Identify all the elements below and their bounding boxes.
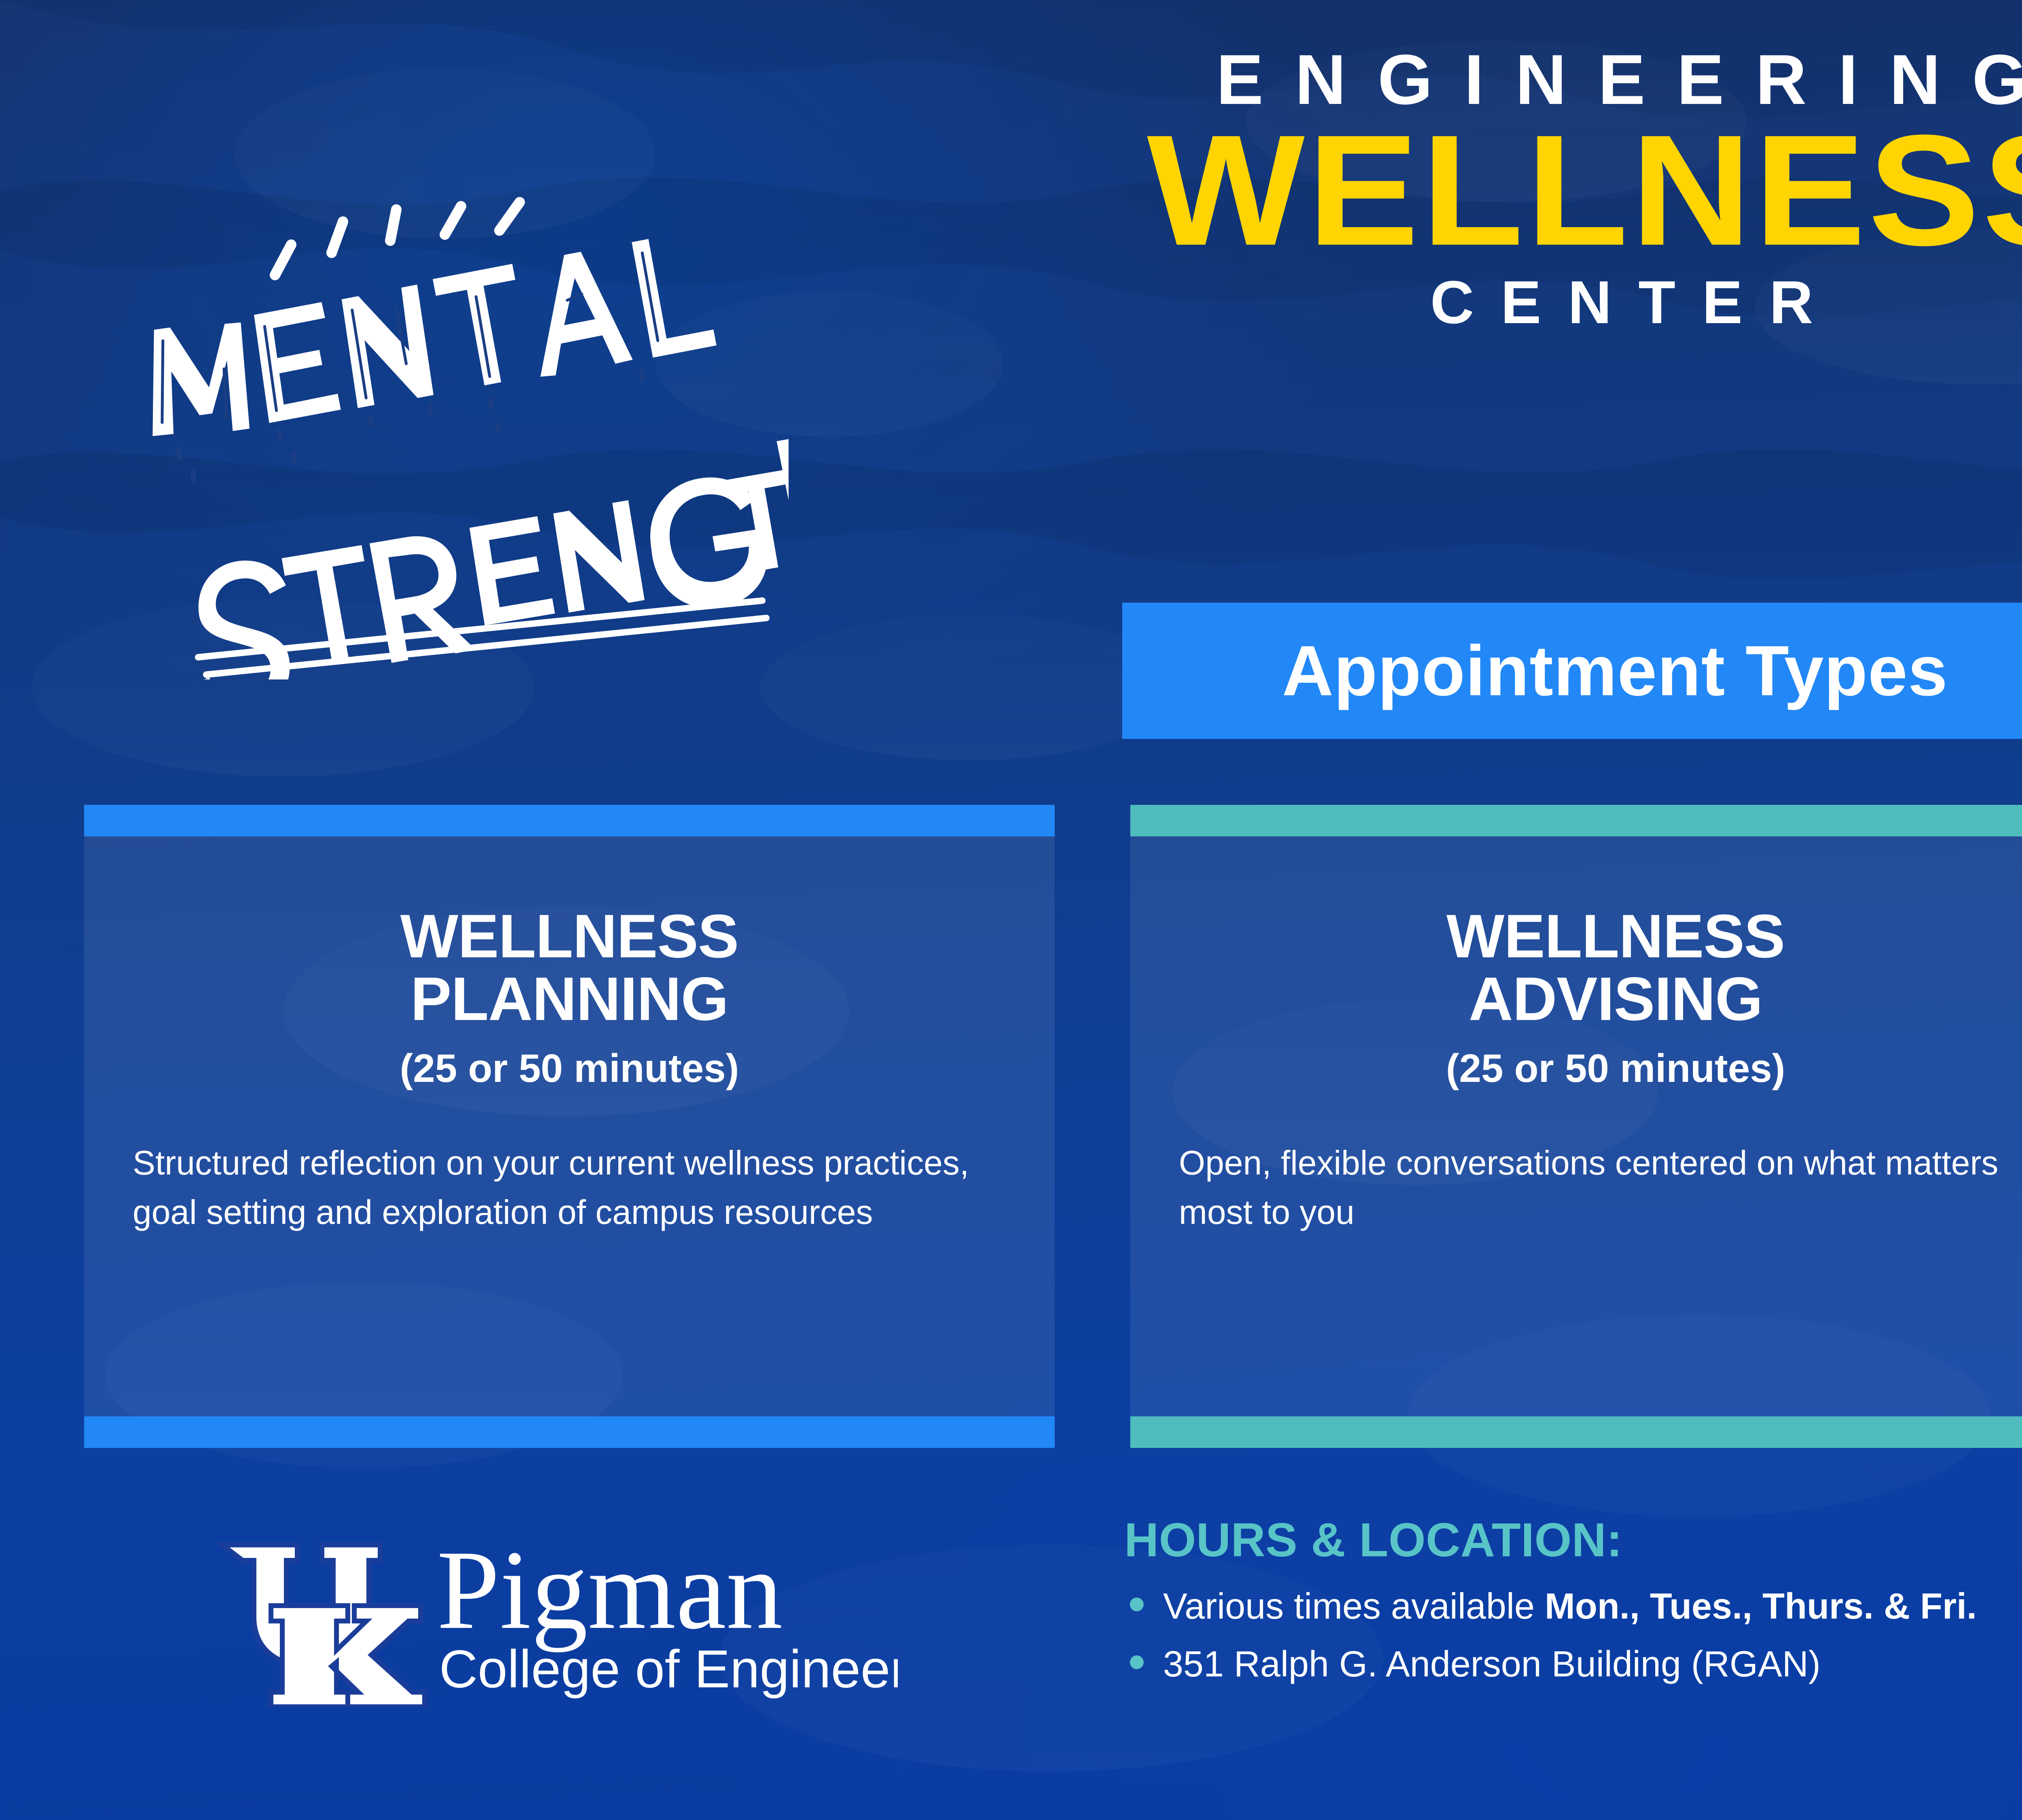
poster-canvas: ENGINEERING WELLNESS CENTER	[0, 0, 2022, 1820]
card-accent-bar-top	[84, 805, 1055, 836]
bullet-icon	[1130, 1655, 1144, 1669]
card-description: Structured reflection on your current we…	[84, 1138, 1055, 1237]
hours-item-text: Various times available	[1163, 1586, 1545, 1627]
card-body: WELLNESS ADVISING (25 or 50 minutes) Ope…	[1130, 836, 2022, 1416]
hours-heading: HOURS & LOCATION:	[1124, 1513, 2022, 1568]
card-duration: (25 or 50 minutes)	[1130, 1047, 2022, 1090]
uk-pigman-logo: Pigman College of Engineering	[210, 1529, 898, 1707]
appointment-types-banner: Appointment Types	[1122, 603, 2022, 739]
appointment-cards: WELLNESS PLANNING (25 or 50 minutes) Str…	[0, 805, 2022, 1452]
card-title: WELLNESS ADVISING	[1130, 905, 2022, 1031]
uk-monogram-icon	[222, 1545, 425, 1707]
appointment-card-wellness-advising[interactable]: WELLNESS ADVISING (25 or 50 minutes) Ope…	[1130, 805, 2022, 1448]
hours-location-block: HOURS & LOCATION: Various times availabl…	[1124, 1513, 2022, 1699]
logo-wordmark: Pigman	[437, 1529, 783, 1653]
hours-list-item: 351 Ralph G. Anderson Building (RGAN)	[1124, 1641, 2022, 1688]
hours-item-strong: Mon., Tues., Thurs. & Fri.	[1545, 1586, 1977, 1627]
mental-strength-lettering-icon	[121, 174, 789, 679]
hours-list: Various times available Mon., Tues., Thu…	[1124, 1583, 2022, 1688]
bullet-icon	[1130, 1598, 1144, 1611]
logo-subtitle: College of Engineering	[439, 1639, 898, 1699]
card-duration: (25 or 50 minutes)	[84, 1047, 1055, 1090]
card-accent-bar-top	[1130, 805, 2022, 836]
hours-item-text: 351 Ralph G. Anderson Building (RGAN)	[1163, 1644, 1821, 1685]
card-accent-bar-bottom	[1130, 1416, 2022, 1448]
card-accent-bar-bottom	[84, 1416, 1055, 1448]
card-body: WELLNESS PLANNING (25 or 50 minutes) Str…	[84, 836, 1055, 1416]
poster-title: ENGINEERING WELLNESS CENTER	[890, 44, 2022, 332]
hours-list-item: Various times available Mon., Tues., Thu…	[1124, 1583, 2022, 1630]
title-line-center: CENTER	[916, 272, 2022, 332]
appointment-types-label: Appointment Types	[1282, 630, 1948, 712]
card-title: WELLNESS PLANNING	[84, 905, 1055, 1031]
appointment-card-wellness-planning[interactable]: WELLNESS PLANNING (25 or 50 minutes) Str…	[84, 805, 1055, 1448]
card-description: Open, flexible conversations centered on…	[1130, 1138, 2022, 1237]
poster-header: ENGINEERING WELLNESS CENTER	[0, 0, 2022, 586]
title-line-wellness: WELLNESS	[846, 118, 2022, 263]
poster-footer: Pigman College of Engineering HOURS & LO…	[0, 1464, 2022, 1820]
